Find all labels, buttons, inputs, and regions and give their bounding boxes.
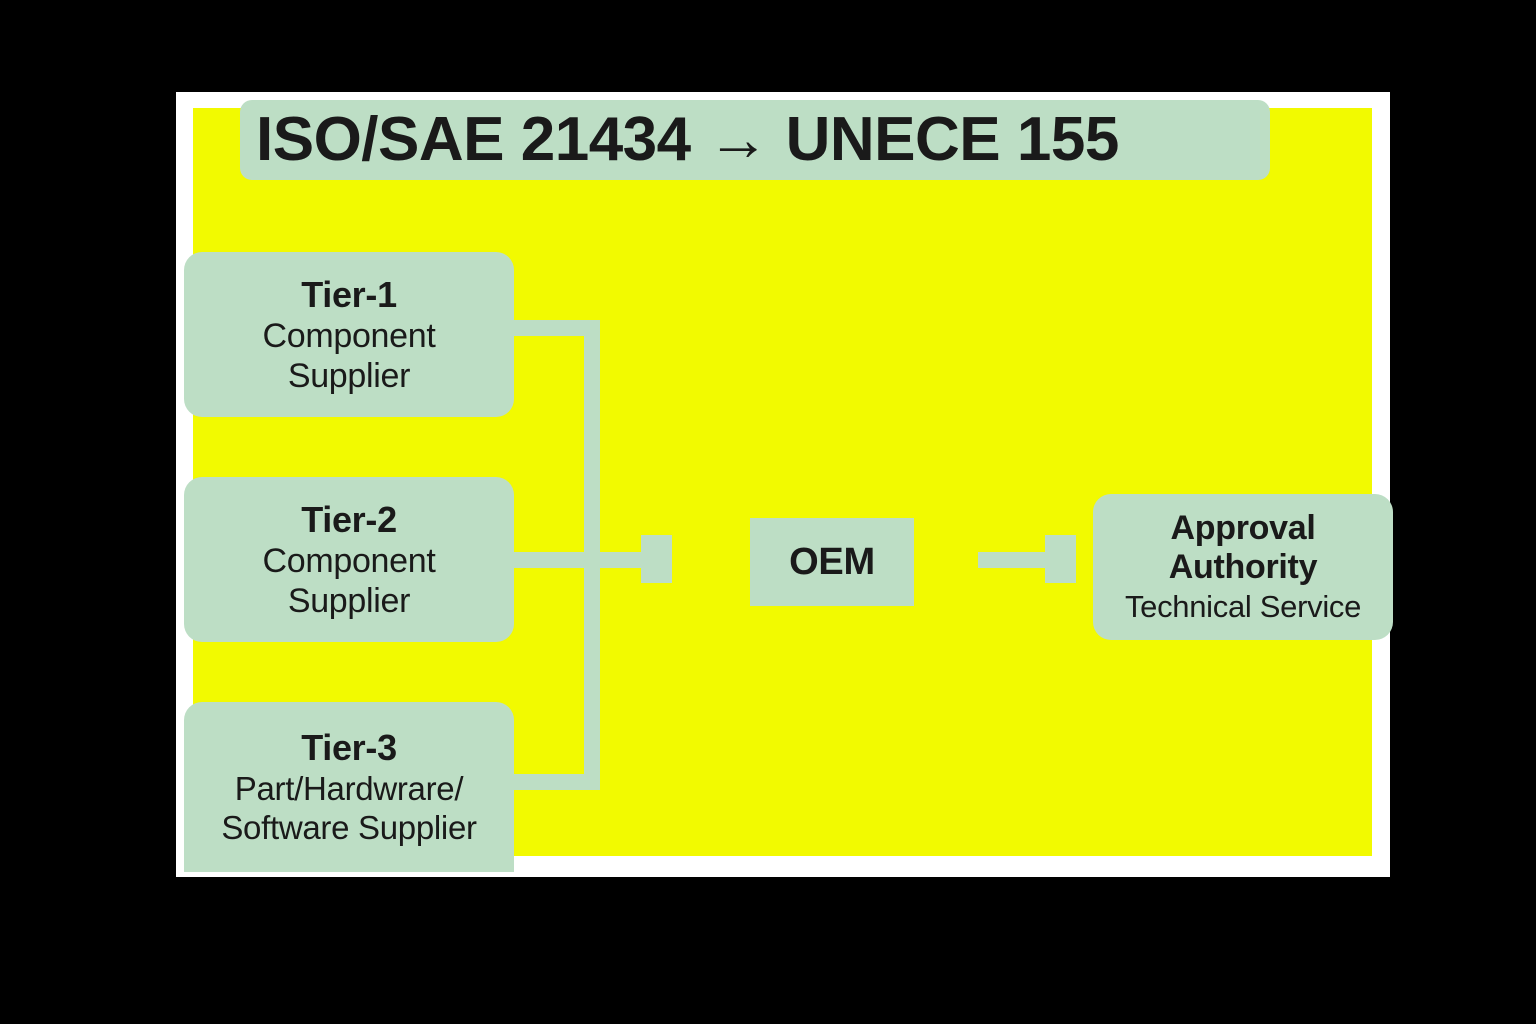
node-tier-1[interactable]: Tier-1 Component Supplier <box>184 252 514 417</box>
page-title: ISO/SAE 21434 → UNECE 155 <box>256 109 1119 171</box>
node-approval-title-line-1: Approval <box>1171 509 1316 548</box>
node-tier-2-subtitle-line-1: Component <box>262 541 435 581</box>
node-approval-title-line-2: Authority <box>1169 548 1317 587</box>
node-approval-subtitle: Technical Service <box>1125 588 1361 625</box>
connector-arrowhead-to-approval <box>1045 535 1076 583</box>
node-tier-1-subtitle-line-2: Supplier <box>288 356 410 396</box>
diagram-stage: ISO/SAE 21434 → UNECE 155 Tier-1 Compone… <box>0 0 1536 1024</box>
node-tier-3-subtitle-line-1: Part/Hardwrare/ <box>235 770 463 809</box>
node-tier-2[interactable]: Tier-2 Component Supplier <box>184 477 514 642</box>
connector-arrowhead-to-oem <box>641 535 672 583</box>
node-approval-authority[interactable]: Approval Authority Technical Service <box>1093 494 1393 640</box>
node-tier-2-title: Tier-2 <box>301 498 397 541</box>
connector-trunk-upper <box>584 320 600 560</box>
node-oem-title: OEM <box>789 541 875 584</box>
node-tier-3-title: Tier-3 <box>301 726 397 769</box>
connector-oem-to-approval <box>978 552 1050 568</box>
node-tier-1-subtitle-line-1: Component <box>262 316 435 356</box>
node-tier-3[interactable]: Tier-3 Part/Hardwrare/ Software Supplier <box>184 702 514 872</box>
diagram-title-banner: ISO/SAE 21434 → UNECE 155 <box>240 100 1270 180</box>
connector-tier2-to-trunk <box>510 552 642 568</box>
node-tier-1-title: Tier-1 <box>301 273 397 316</box>
connector-trunk-lower <box>584 552 600 790</box>
node-oem[interactable]: OEM <box>750 518 914 606</box>
node-tier-3-subtitle-line-2: Software Supplier <box>221 809 476 848</box>
node-tier-2-subtitle-line-2: Supplier <box>288 581 410 621</box>
connector-tier3-to-trunk <box>510 774 600 790</box>
